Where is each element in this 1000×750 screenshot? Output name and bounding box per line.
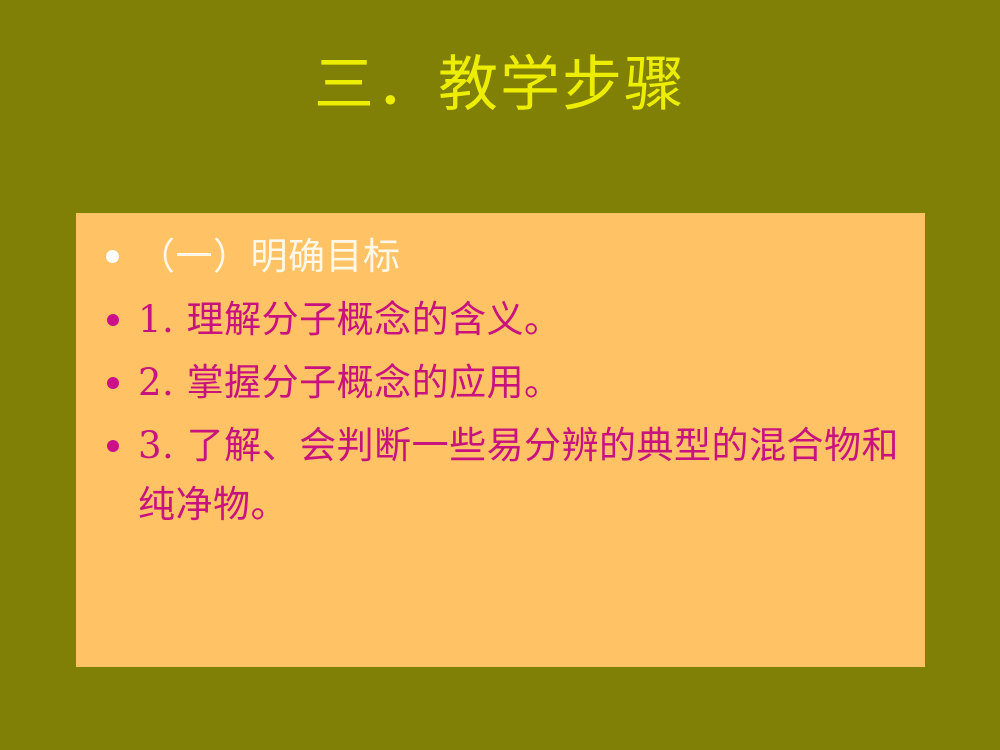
white-dot-bullet-icon — [106, 250, 119, 263]
page-title: 三．教学步骤 — [0, 48, 1000, 122]
list-item[interactable]: 1. 理解分子概念的含义。 — [94, 290, 925, 349]
list-item-label: 2. 掌握分子概念的应用。 — [138, 361, 562, 404]
bullet-list: （一）明确目标 1. 理解分子概念的含义。 2. 掌握分子概念的应用。 3. 了… — [76, 227, 925, 534]
list-item-label: 3. 了解、会判断一些易分辨的典型的混合物和纯净物。 — [138, 424, 899, 526]
list-item-label: 1. 理解分子概念的含义。 — [138, 298, 562, 341]
content-placeholder[interactable]: （一）明确目标 1. 理解分子概念的含义。 2. 掌握分子概念的应用。 3. 了… — [76, 213, 925, 667]
list-item-label: （一）明确目标 — [138, 235, 401, 278]
list-item[interactable]: 3. 了解、会判断一些易分辨的典型的混合物和纯净物。 — [94, 416, 925, 534]
magenta-dot-bullet-icon — [107, 440, 119, 452]
presentation-slide: 三．教学步骤 （一）明确目标 1. 理解分子概念的含义。 2. 掌握分子概念的应… — [0, 0, 1000, 750]
list-item[interactable]: （一）明确目标 — [94, 227, 925, 286]
magenta-dot-bullet-icon — [107, 377, 119, 389]
magenta-dot-bullet-icon — [107, 314, 119, 326]
list-item[interactable]: 2. 掌握分子概念的应用。 — [94, 353, 925, 412]
